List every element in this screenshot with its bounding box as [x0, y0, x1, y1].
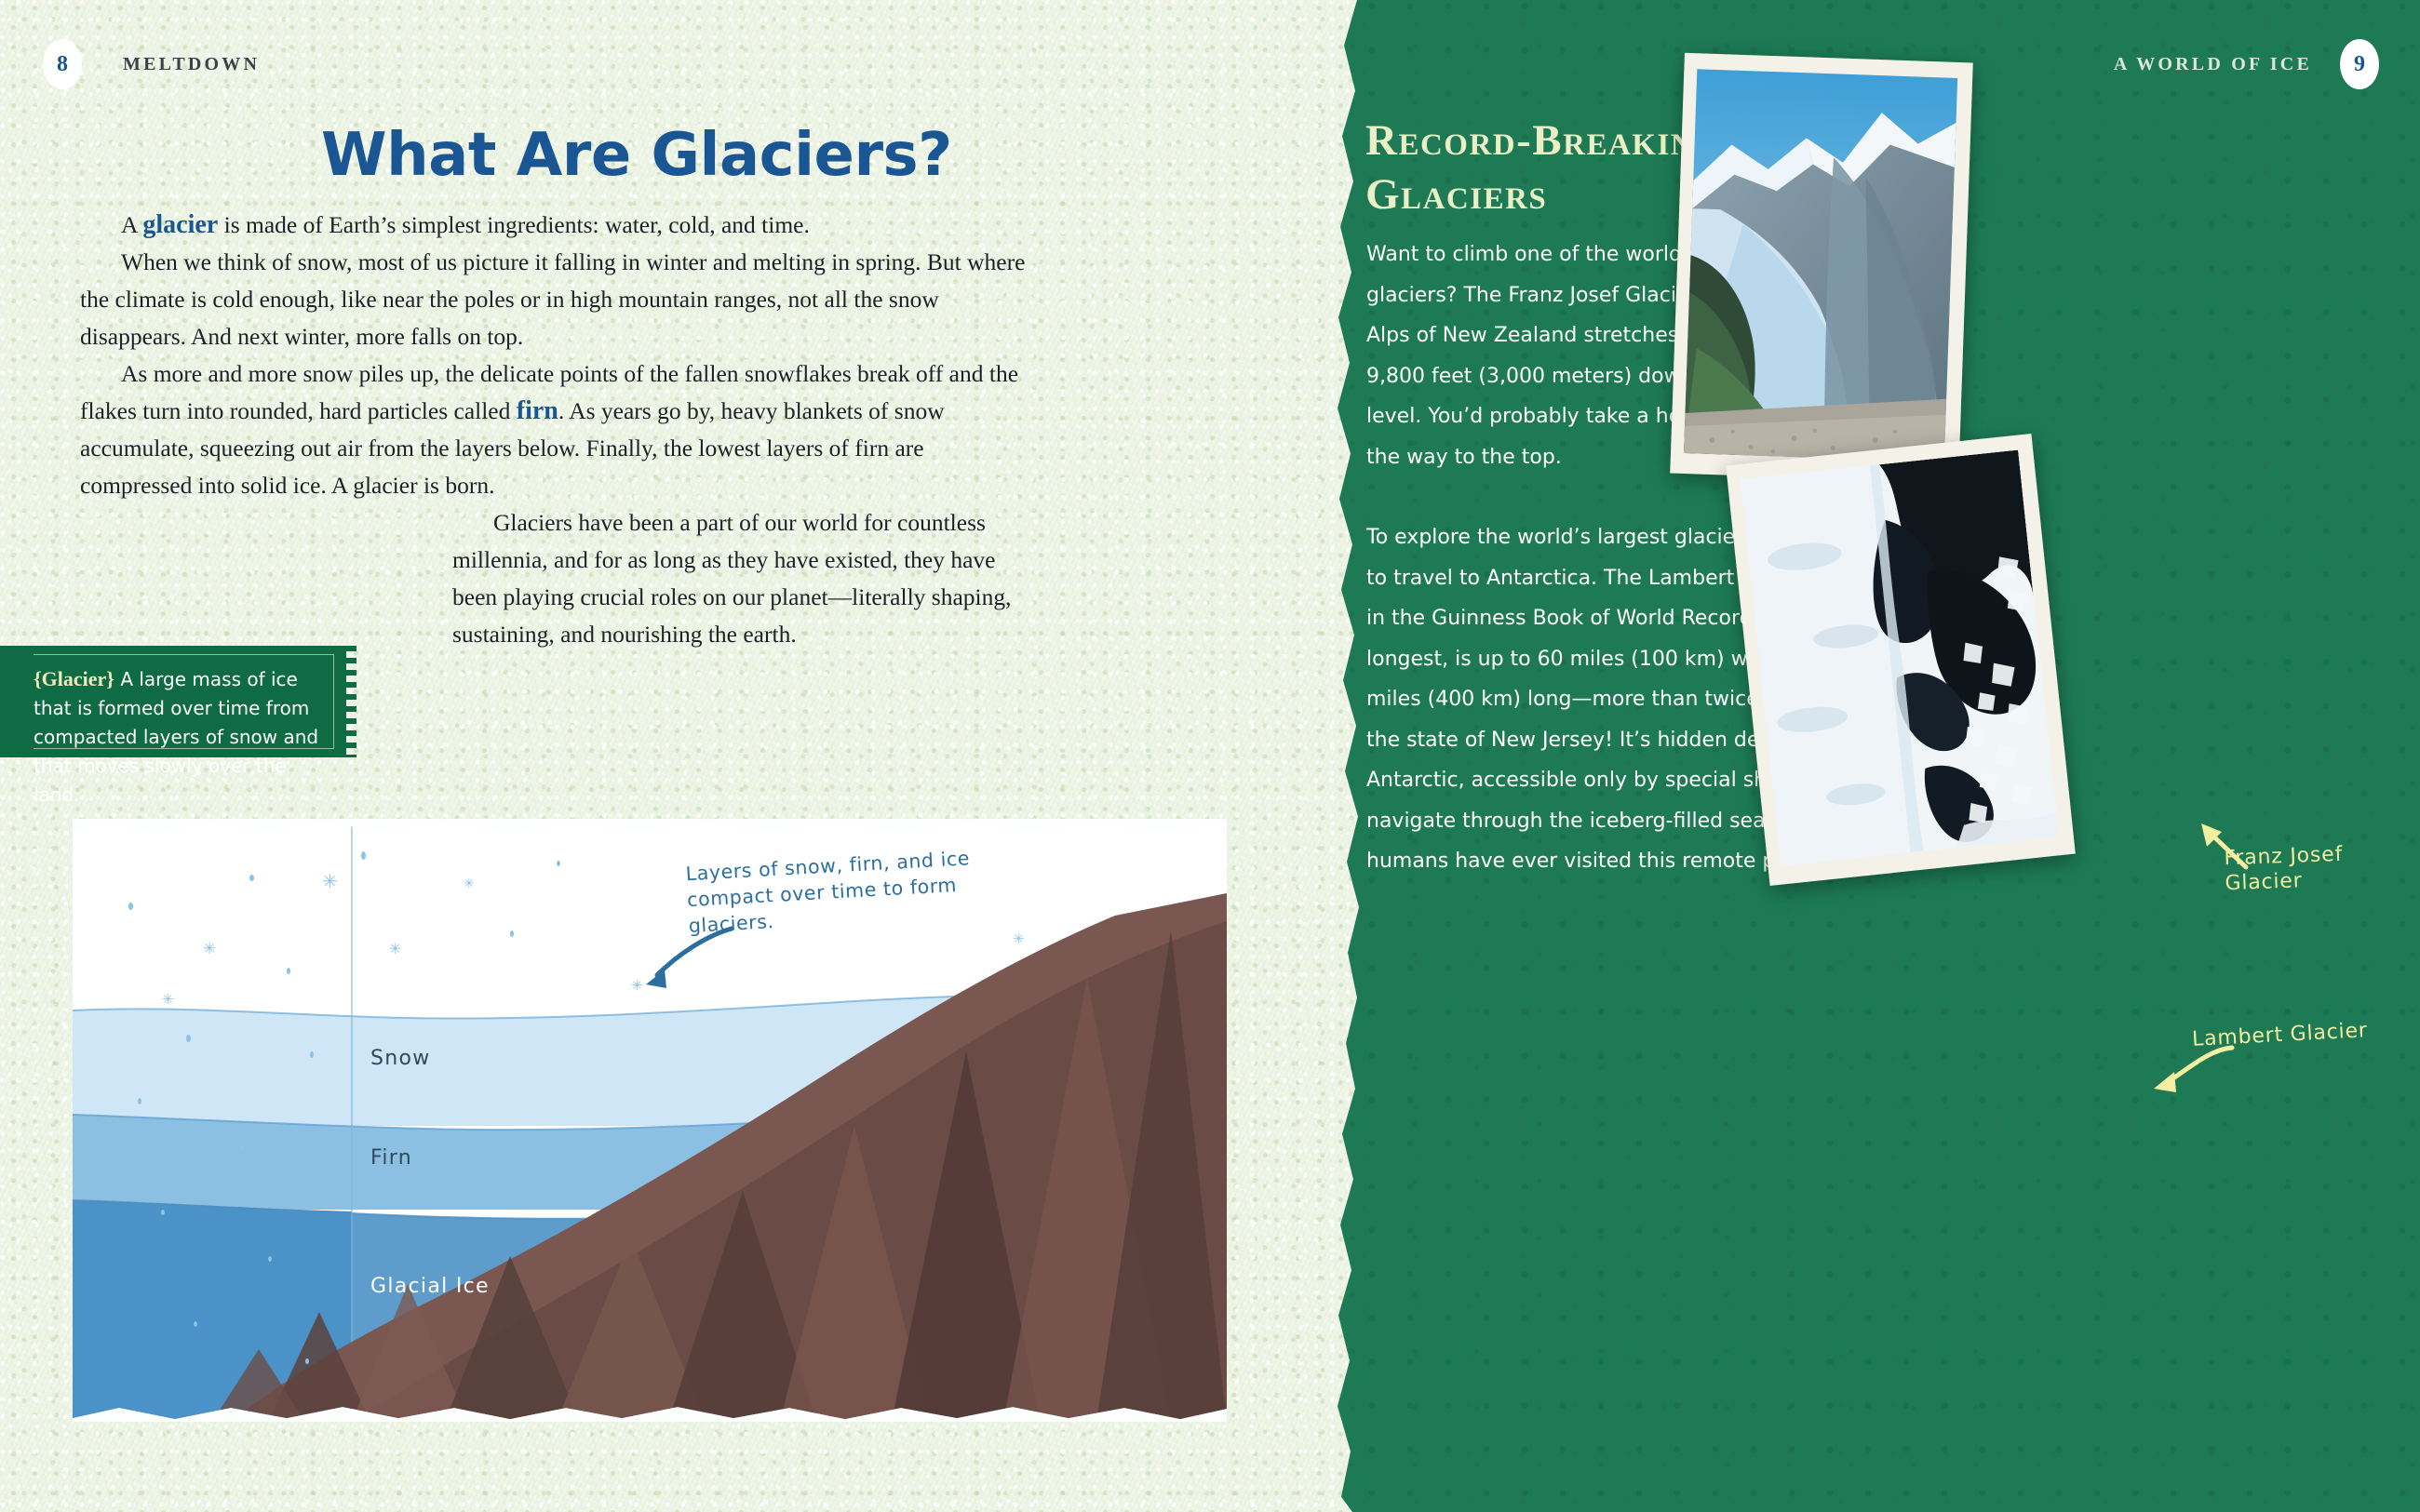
snow-speck [138, 1098, 141, 1104]
caption-franz-josef: Franz Josef Glacier [2224, 842, 2344, 896]
running-head-right: A WORLD OF ICE [2114, 54, 2312, 75]
glossary-term: {Glacier} [34, 667, 114, 690]
page-title: What Are Glaciers? [321, 121, 1028, 190]
layer-label-snow: Snow [370, 1047, 431, 1070]
snow-speck [240, 1144, 244, 1150]
photo-lambert-glacier-image [1741, 450, 2059, 866]
paragraph-1: A glacier is made of Earth’s simplest in… [80, 207, 1031, 244]
glossary-box: {Glacier} A large mass of ice that is fo… [0, 646, 346, 757]
lambert-satellite-illustration [1741, 450, 2059, 866]
paragraph-2: When we think of snow, most of us pictur… [80, 244, 1031, 355]
snow-speck [361, 851, 366, 860]
left-page: 8 MELTDOWN What Are Glaciers? A glacier … [0, 0, 1359, 1512]
franz-josef-illustration [1684, 69, 1957, 462]
snow-speck [510, 930, 514, 937]
snowflake-icon: ✳ [389, 940, 401, 958]
snow-speck [161, 1210, 165, 1215]
snow-speck [249, 875, 254, 881]
left-body-text: A glacier is made of Earth’s simplest in… [80, 207, 1031, 657]
snow-speck [268, 1256, 272, 1262]
snowflake-icon: ✳ [203, 940, 216, 958]
glossary-text: {Glacier} A large mass of ice that is fo… [34, 664, 328, 810]
caption-franz-line2: Glacier [2225, 869, 2303, 895]
snow-speck [128, 903, 133, 910]
layer-label-glacial-ice: Glacial Ice [370, 1275, 490, 1298]
snowflake-icon: ✳ [322, 870, 338, 893]
snow-speck [287, 968, 290, 974]
photo-lambert-glacier [1726, 434, 2076, 886]
glacier-layers-diagram: ✳ ✳ ✳ ✳ ✳ ✳ ✳ Layers of snow, firn, and … [73, 819, 1227, 1422]
snow-speck [186, 1035, 191, 1042]
snowflake-icon: ✳ [162, 991, 174, 1009]
glossary-float-spacer [80, 521, 426, 648]
photo-franz-josef [1670, 53, 1973, 484]
paragraph-4: Glaciers have been a part of our world f… [80, 504, 1031, 653]
annotation-arrow-icon [631, 923, 743, 1007]
page-number-left: 8 [43, 39, 82, 89]
left-folio: 8 MELTDOWN [43, 39, 260, 89]
snow-speck [305, 1358, 309, 1364]
caption-franz-line1: Franz Josef [2224, 843, 2343, 870]
snowflake-icon: ✳ [1013, 930, 1025, 948]
page-number-right: 9 [2340, 39, 2379, 89]
snow-speck [557, 861, 560, 866]
photo-franz-josef-image [1684, 69, 1957, 462]
snowflake-icon: ✳ [464, 876, 475, 892]
diagram-svg [73, 819, 1227, 1422]
snow-speck [194, 1321, 197, 1327]
right-folio: A WORLD OF ICE 9 [2114, 39, 2379, 89]
layer-label-firn: Firn [370, 1146, 412, 1170]
running-head-left: MELTDOWN [123, 54, 260, 75]
keyword-firn: firn [517, 396, 558, 425]
paragraph-3: As more and more snow piles up, the deli… [80, 355, 1031, 504]
keyword-glacier: glacier [142, 210, 218, 239]
snow-speck [310, 1051, 314, 1058]
book-spread: 8 MELTDOWN What Are Glaciers? A glacier … [0, 0, 2420, 1512]
